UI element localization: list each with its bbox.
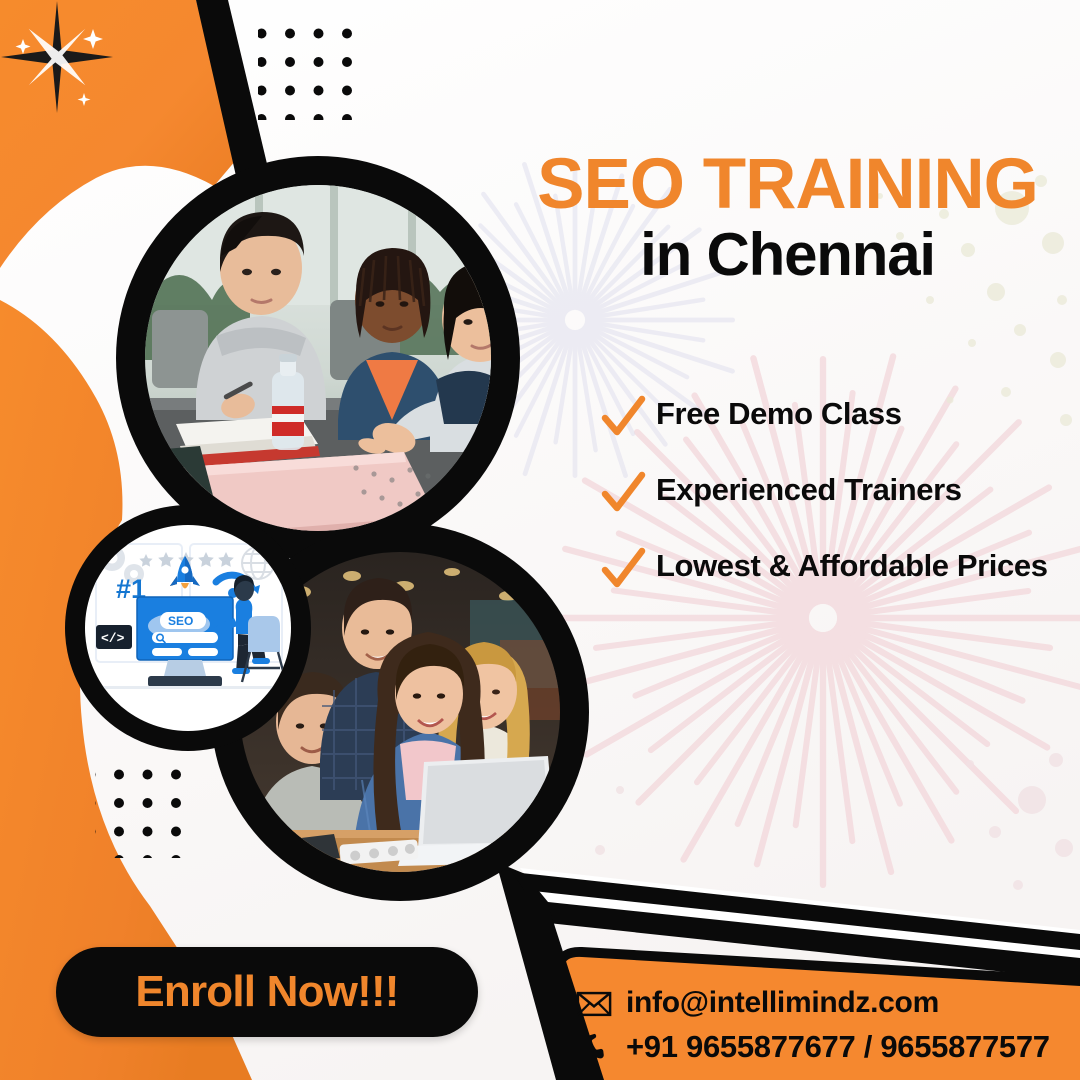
contact-phone-text: +91 9655877677 / 9655877577 — [626, 1029, 1050, 1065]
enroll-now-button[interactable]: Enroll Now!!! — [56, 947, 478, 1037]
contact-email-row[interactable]: info@intellimindz.com — [575, 981, 1050, 1025]
headline-secondary: in Chennai — [505, 220, 1070, 291]
check-icon — [600, 470, 646, 516]
feature-label: Experienced Trainers — [656, 468, 962, 510]
check-icon — [600, 394, 646, 440]
envelope-icon — [575, 988, 613, 1018]
headline-primary: SEO TRAINING — [505, 150, 1070, 220]
feature-item: Lowest & Affordable Prices — [600, 544, 1070, 592]
check-icon — [600, 546, 646, 592]
poster-canvas: #1 </> SEO — [0, 0, 1080, 1080]
code-badge-label: </> — [101, 631, 125, 646]
feature-label: Lowest & Affordable Prices — [656, 544, 1048, 586]
feature-list: Free Demo Class Experienced Trainers Low… — [600, 392, 1070, 592]
contact-block: info@intellimindz.com +91 9655877677 / 9… — [575, 981, 1050, 1069]
enroll-now-label: Enroll Now!!! — [135, 967, 398, 1017]
phone-icon — [575, 1032, 613, 1062]
seo-screen-label: SEO — [168, 614, 193, 628]
headline-block: SEO TRAINING in Chennai — [505, 150, 1070, 290]
contact-email-text: info@intellimindz.com — [626, 986, 939, 1020]
feature-item: Free Demo Class — [600, 392, 1070, 440]
feature-item: Experienced Trainers — [600, 468, 1070, 516]
contact-phone-row[interactable]: +91 9655877677 / 9655877577 — [575, 1025, 1050, 1069]
feature-label: Free Demo Class — [656, 392, 902, 434]
